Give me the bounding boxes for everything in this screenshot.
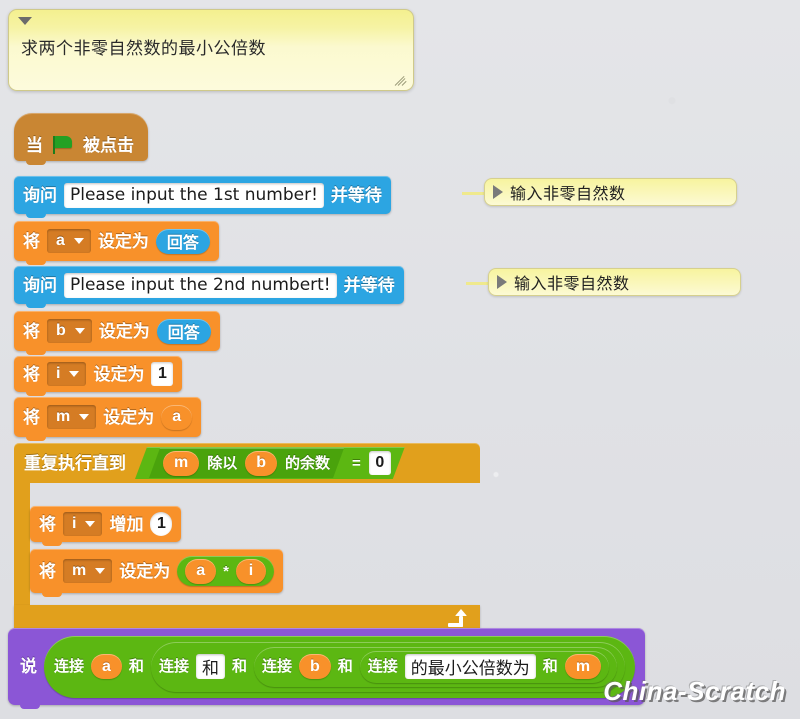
set-label: 将 <box>23 233 40 250</box>
repeat-until-label: 重复执行直到 <box>24 455 126 472</box>
variable-reporter-b[interactable]: b <box>299 654 331 679</box>
say-block[interactable]: 说 连接 a 和 连接 和 和 连接 b 和 连接 的最小公倍数为 和 m <box>8 628 645 705</box>
set-value-input-i[interactable]: 1 <box>151 362 173 386</box>
variable-dropdown-m[interactable]: m <box>63 559 112 583</box>
chevron-down-icon <box>79 414 89 420</box>
variable-dropdown-b[interactable]: b <box>47 319 92 343</box>
triangle-right-icon[interactable] <box>497 275 507 289</box>
change-variable-block-i[interactable]: 将 i 增加 1 <box>30 506 181 542</box>
collapsed-comment-text: 输入非零自然数 <box>514 270 630 294</box>
comment-text: 求两个非零自然数的最小公倍数 <box>9 30 413 59</box>
script-canvas[interactable]: 求两个非零自然数的最小公倍数 当 被点击 询问 Please input the… <box>0 0 800 719</box>
variable-reporter-a[interactable]: a <box>161 405 192 430</box>
variable-dropdown-m[interactable]: m <box>47 405 96 429</box>
ask-and-wait-block-1[interactable]: 询问 Please input the 1st number! 并等待 <box>14 176 391 214</box>
equals-operator-label: = <box>352 456 361 471</box>
join-and-label: 和 <box>338 659 353 674</box>
answer-reporter[interactable]: 回答 <box>157 319 211 344</box>
set-to-label: 设定为 <box>103 409 154 426</box>
variable-name: m <box>72 562 86 580</box>
set-label: 将 <box>23 409 40 426</box>
variable-reporter-a[interactable]: a <box>91 654 122 679</box>
loop-arrow-icon <box>448 611 466 628</box>
mod-operator-block[interactable]: m 除以 b 的余数 <box>149 448 344 478</box>
change-value-input-i[interactable]: 1 <box>150 512 172 536</box>
variable-name: i <box>72 515 76 533</box>
variable-name: a <box>56 232 65 250</box>
join-label: 连接 <box>54 659 84 674</box>
join-text-input-1[interactable]: 和 <box>196 654 225 679</box>
variable-reporter-a[interactable]: a <box>185 559 216 584</box>
join-and-label: 和 <box>543 659 558 674</box>
script-comment[interactable]: 求两个非零自然数的最小公倍数 <box>8 9 414 91</box>
when-label: 当 <box>26 137 43 154</box>
chevron-down-icon <box>95 568 105 574</box>
set-label: 将 <box>23 323 40 340</box>
change-by-label: 增加 <box>109 516 143 533</box>
variable-dropdown-i[interactable]: i <box>47 362 86 386</box>
say-label: 说 <box>20 658 37 675</box>
variable-dropdown-i[interactable]: i <box>63 512 102 536</box>
variable-reporter-i[interactable]: i <box>236 559 266 584</box>
join-text-input-2[interactable]: 的最小公倍数为 <box>405 654 536 679</box>
set-label: 将 <box>39 563 56 580</box>
set-variable-block-i[interactable]: 将 i 设定为 1 <box>14 356 182 392</box>
join-label: 连接 <box>262 659 292 674</box>
variable-reporter-b[interactable]: b <box>245 451 277 476</box>
repeat-until-header[interactable]: 重复执行直到 m 除以 b 的余数 = 0 <box>14 443 480 483</box>
ask-question-input-1[interactable]: Please input the 1st number! <box>64 183 324 208</box>
variable-reporter-m[interactable]: m <box>565 654 601 679</box>
equals-value-input[interactable]: 0 <box>369 451 391 475</box>
set-variable-block-a[interactable]: 将 a 设定为 回答 <box>14 221 219 261</box>
join-and-label: 和 <box>129 659 144 674</box>
triangle-down-icon[interactable] <box>18 17 32 25</box>
set-to-label: 设定为 <box>93 366 144 383</box>
collapsed-comment-2[interactable]: 输入非零自然数 <box>488 268 741 296</box>
set-to-label: 设定为 <box>99 323 150 340</box>
comment-connector-1 <box>462 192 486 195</box>
multiply-operator-block[interactable]: a * i <box>177 556 274 586</box>
variable-dropdown-a[interactable]: a <box>47 229 91 253</box>
remainder-label: 的余数 <box>285 456 330 471</box>
ask-and-wait-block-2[interactable]: 询问 Please input the 2nd numbert! 并等待 <box>14 266 404 304</box>
c-block-arm <box>14 483 30 605</box>
set-label: 将 <box>23 366 40 383</box>
multiply-symbol: * <box>223 564 229 579</box>
comment-header[interactable] <box>9 10 413 30</box>
variable-name: i <box>56 365 60 383</box>
set-variable-block-m[interactable]: 将 m 设定为 a <box>14 397 201 437</box>
ask-label: 询问 <box>23 187 57 204</box>
and-wait-label: 并等待 <box>344 277 395 294</box>
collapsed-comment-text: 输入非零自然数 <box>510 180 626 204</box>
resize-grip-icon[interactable] <box>393 73 409 87</box>
join-block-3[interactable]: 连接 b 和 连接 的最小公倍数为 和 m <box>254 647 617 687</box>
join-block-2[interactable]: 连接 和 和 连接 b 和 连接 的最小公倍数为 和 m <box>151 642 625 692</box>
collapsed-comment-1[interactable]: 输入非零自然数 <box>484 178 737 206</box>
mod-label: 除以 <box>207 456 237 471</box>
answer-reporter[interactable]: 回答 <box>156 229 210 254</box>
clicked-label: 被点击 <box>83 137 134 154</box>
set-label: 将 <box>39 516 56 533</box>
variable-name: m <box>56 408 70 426</box>
join-block-1[interactable]: 连接 a 和 连接 和 和 连接 b 和 连接 的最小公倍数为 和 m <box>44 636 635 698</box>
chevron-down-icon <box>75 328 85 334</box>
and-wait-label: 并等待 <box>331 187 382 204</box>
set-variable-block-m2[interactable]: 将 m 设定为 a * i <box>30 549 283 593</box>
ask-label: 询问 <box>23 277 57 294</box>
set-variable-block-b[interactable]: 将 b 设定为 回答 <box>14 311 220 351</box>
set-to-label: 设定为 <box>98 233 149 250</box>
join-label: 连接 <box>368 659 398 674</box>
variable-name: b <box>56 322 66 340</box>
equals-boolean-block[interactable]: m 除以 b 的余数 = 0 <box>135 447 405 479</box>
set-to-label: 设定为 <box>119 563 170 580</box>
comment-connector-2 <box>466 282 490 285</box>
join-block-4[interactable]: 连接 的最小公倍数为 和 m <box>360 651 609 683</box>
variable-reporter-m[interactable]: m <box>163 451 199 476</box>
ask-question-input-2[interactable]: Please input the 2nd numbert! <box>64 273 337 298</box>
chevron-down-icon <box>85 521 95 527</box>
chevron-down-icon <box>74 238 84 244</box>
join-label: 连接 <box>159 659 189 674</box>
when-flag-clicked-block[interactable]: 当 被点击 <box>14 113 148 161</box>
triangle-right-icon[interactable] <box>493 185 503 199</box>
chevron-down-icon <box>69 371 79 377</box>
green-flag-icon <box>52 136 74 154</box>
join-and-label: 和 <box>232 659 247 674</box>
